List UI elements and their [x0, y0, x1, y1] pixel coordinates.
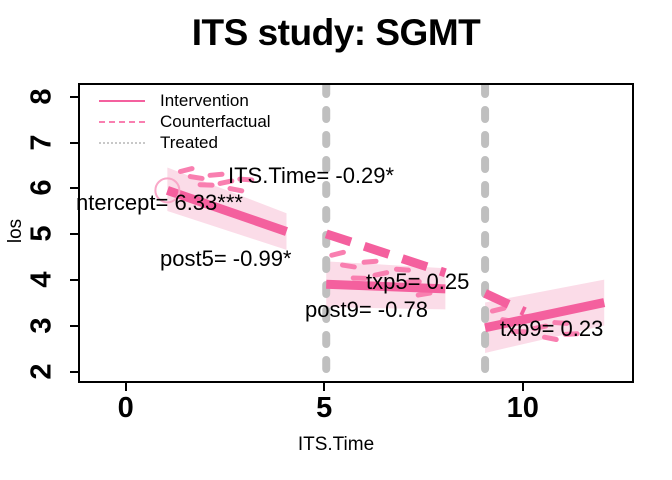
treated-dot: [342, 265, 354, 267]
legend-line-icon: [96, 136, 148, 150]
legend-item: Treated: [96, 133, 271, 153]
y-axis-tick: [70, 279, 78, 281]
legend-line-icon: [96, 115, 148, 129]
treated-dot: [364, 261, 376, 262]
y-axis-tick-label: 7: [26, 122, 59, 162]
treated-dot: [180, 169, 192, 172]
treated-dot: [190, 177, 202, 179]
x-axis-tick-label: 0: [96, 392, 156, 425]
x-axis-tick: [125, 383, 127, 391]
y-axis-tick-label: 3: [26, 305, 59, 345]
y-axis-tick-label: 6: [26, 168, 59, 208]
legend-item: Counterfactual: [96, 112, 271, 132]
annotation-its-time: ITS.Time= -0.29*: [228, 163, 394, 189]
legend-item: Intervention: [96, 91, 271, 111]
page-title: ITS study: SGMT: [0, 12, 672, 54]
annotation-intercept: ntercept= 6.33***: [76, 190, 243, 216]
legend-item-label: Counterfactual: [160, 112, 271, 132]
y-axis-tick: [70, 233, 78, 235]
y-axis-tick: [70, 325, 78, 327]
annotation-txp9: txp9= 0.23: [500, 316, 603, 342]
x-axis-tick: [323, 383, 325, 391]
y-axis-tick-label: 5: [26, 214, 59, 254]
legend: Intervention Counterfactual Treated: [96, 91, 271, 154]
legend-item-label: Intervention: [160, 91, 249, 111]
y-axis-tick-label: 2: [26, 351, 59, 391]
y-axis-tick: [70, 142, 78, 144]
annotation-post9: post9= -0.78: [305, 297, 428, 323]
y-axis-tick-label: 8: [26, 76, 59, 116]
annotation-post5: post5= -0.99*: [160, 246, 291, 272]
treated-dot: [492, 308, 504, 311]
treated-dot: [210, 174, 222, 175]
chart-canvas: ITS study: SGMT 2345678 0510 ITS.Time lo…: [0, 0, 672, 480]
treated-dot: [332, 252, 344, 255]
y-axis-tick: [70, 371, 78, 373]
x-axis-tick-label: 10: [493, 392, 553, 425]
x-axis-tick: [522, 383, 524, 391]
legend-item-label: Treated: [160, 133, 218, 153]
x-axis-tick-label: 5: [294, 392, 354, 425]
y-axis-tick: [70, 96, 78, 98]
x-axis-title: ITS.Time: [0, 434, 672, 456]
y-axis-tick-label: 4: [26, 259, 59, 299]
legend-line-icon: [96, 94, 148, 108]
y-axis-title: los: [5, 201, 27, 261]
annotation-txp5: txp5= 0.25: [366, 269, 469, 295]
